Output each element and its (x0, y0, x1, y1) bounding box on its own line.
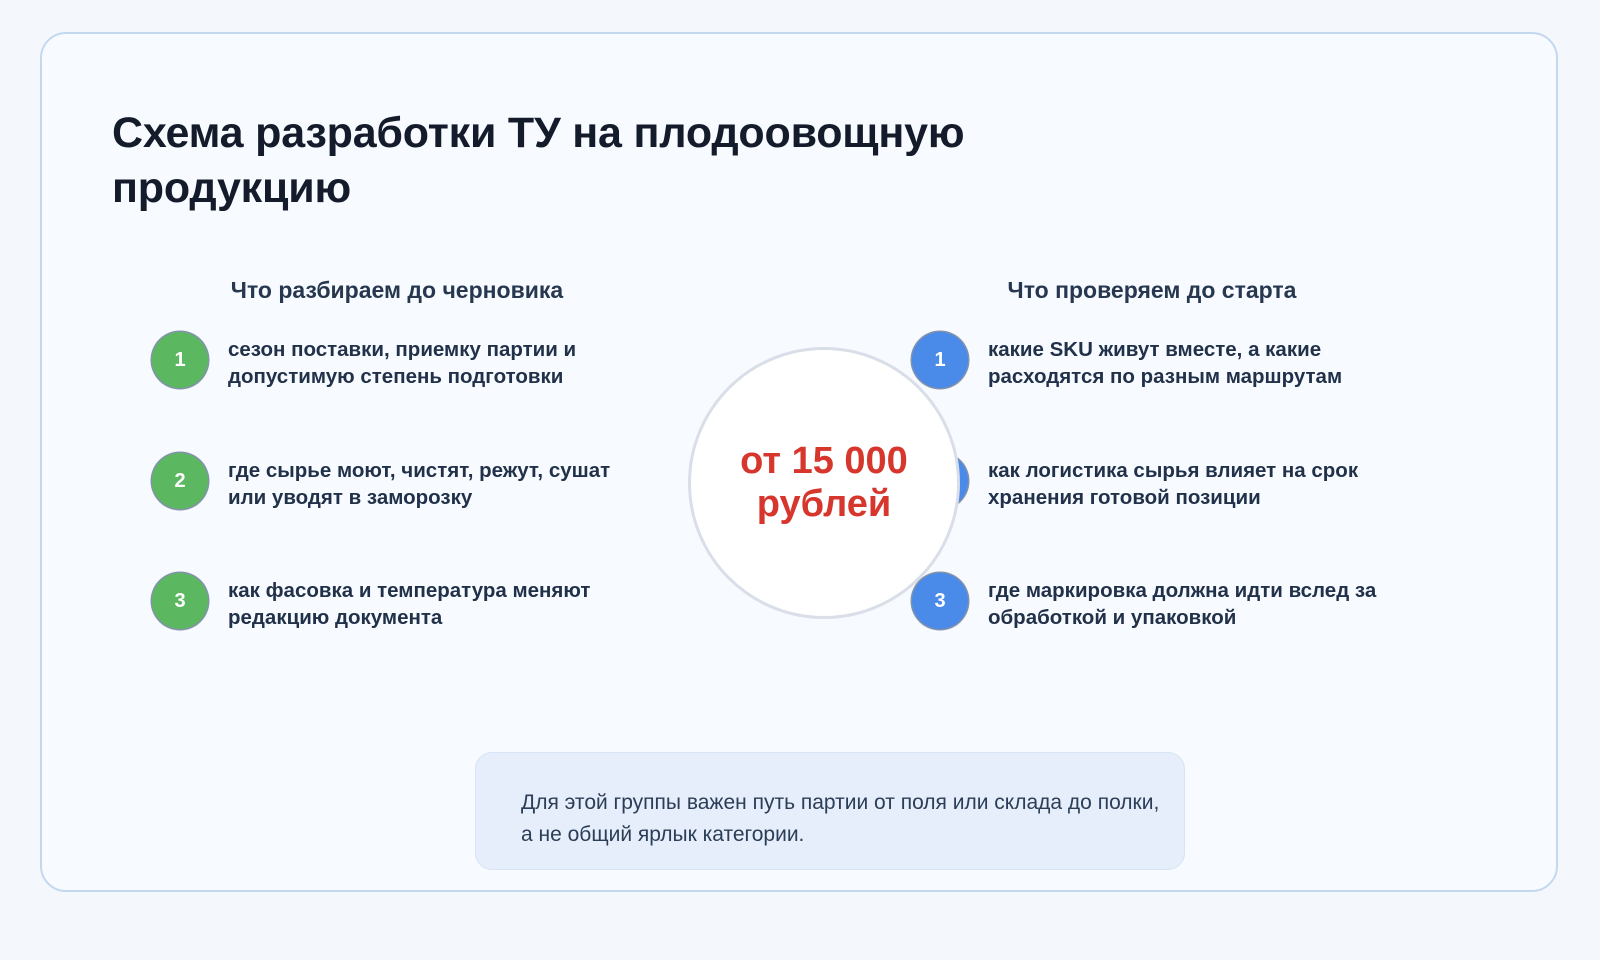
price-text: от 15 000 рублей (739, 440, 909, 525)
left-list-item-2-text: где сырье моют, чистят, режут, сушат или… (228, 451, 632, 511)
step-number-badge: 2 (152, 453, 208, 509)
page-title: Схема разработки ТУ на плодоовощную прод… (112, 106, 1012, 216)
left-list-item-1-text: сезон поставки, приемку партии и допусти… (228, 330, 632, 390)
price-circle: от 15 000 рублей (688, 347, 960, 619)
step-number-badge: 3 (912, 573, 968, 629)
note-text: Для этой группы важен путь партии от пол… (521, 787, 1161, 850)
right-list-item-2: 2 как логистика сырья влияет на срок хра… (912, 451, 1392, 511)
note-box: Для этой группы важен путь партии от пол… (475, 752, 1185, 870)
right-list-item-3: 3 где маркировка должна идти вслед за об… (912, 571, 1392, 631)
left-list-item-2: 2 где сырье моют, чистят, режут, сушат и… (152, 451, 632, 511)
right-list-item-1-text: какие SKU живут вместе, а какие расходят… (988, 330, 1392, 390)
right-list-item-2-text: как логистика сырья влияет на срок хране… (988, 451, 1392, 511)
right-list-item-3-text: где маркировка должна идти вслед за обра… (988, 571, 1392, 631)
infographic-card: Схема разработки ТУ на плодоовощную прод… (40, 32, 1558, 892)
step-number-badge: 3 (152, 573, 208, 629)
right-list-item-1: 1 какие SKU живут вместе, а какие расход… (912, 330, 1392, 390)
left-list-item-3: 3 как фасовка и температура меняют редак… (152, 571, 632, 631)
step-number-badge: 1 (912, 332, 968, 388)
right-column-heading: Что проверяем до старта (872, 277, 1432, 304)
left-list-item-1: 1 сезон поставки, приемку партии и допус… (152, 330, 632, 390)
left-list-item-3-text: как фасовка и температура меняют редакци… (228, 571, 632, 631)
left-column-heading: Что разбираем до черновика (117, 277, 677, 304)
step-number-badge: 1 (152, 332, 208, 388)
infographic-page: Схема разработки ТУ на плодоовощную прод… (0, 0, 1600, 960)
